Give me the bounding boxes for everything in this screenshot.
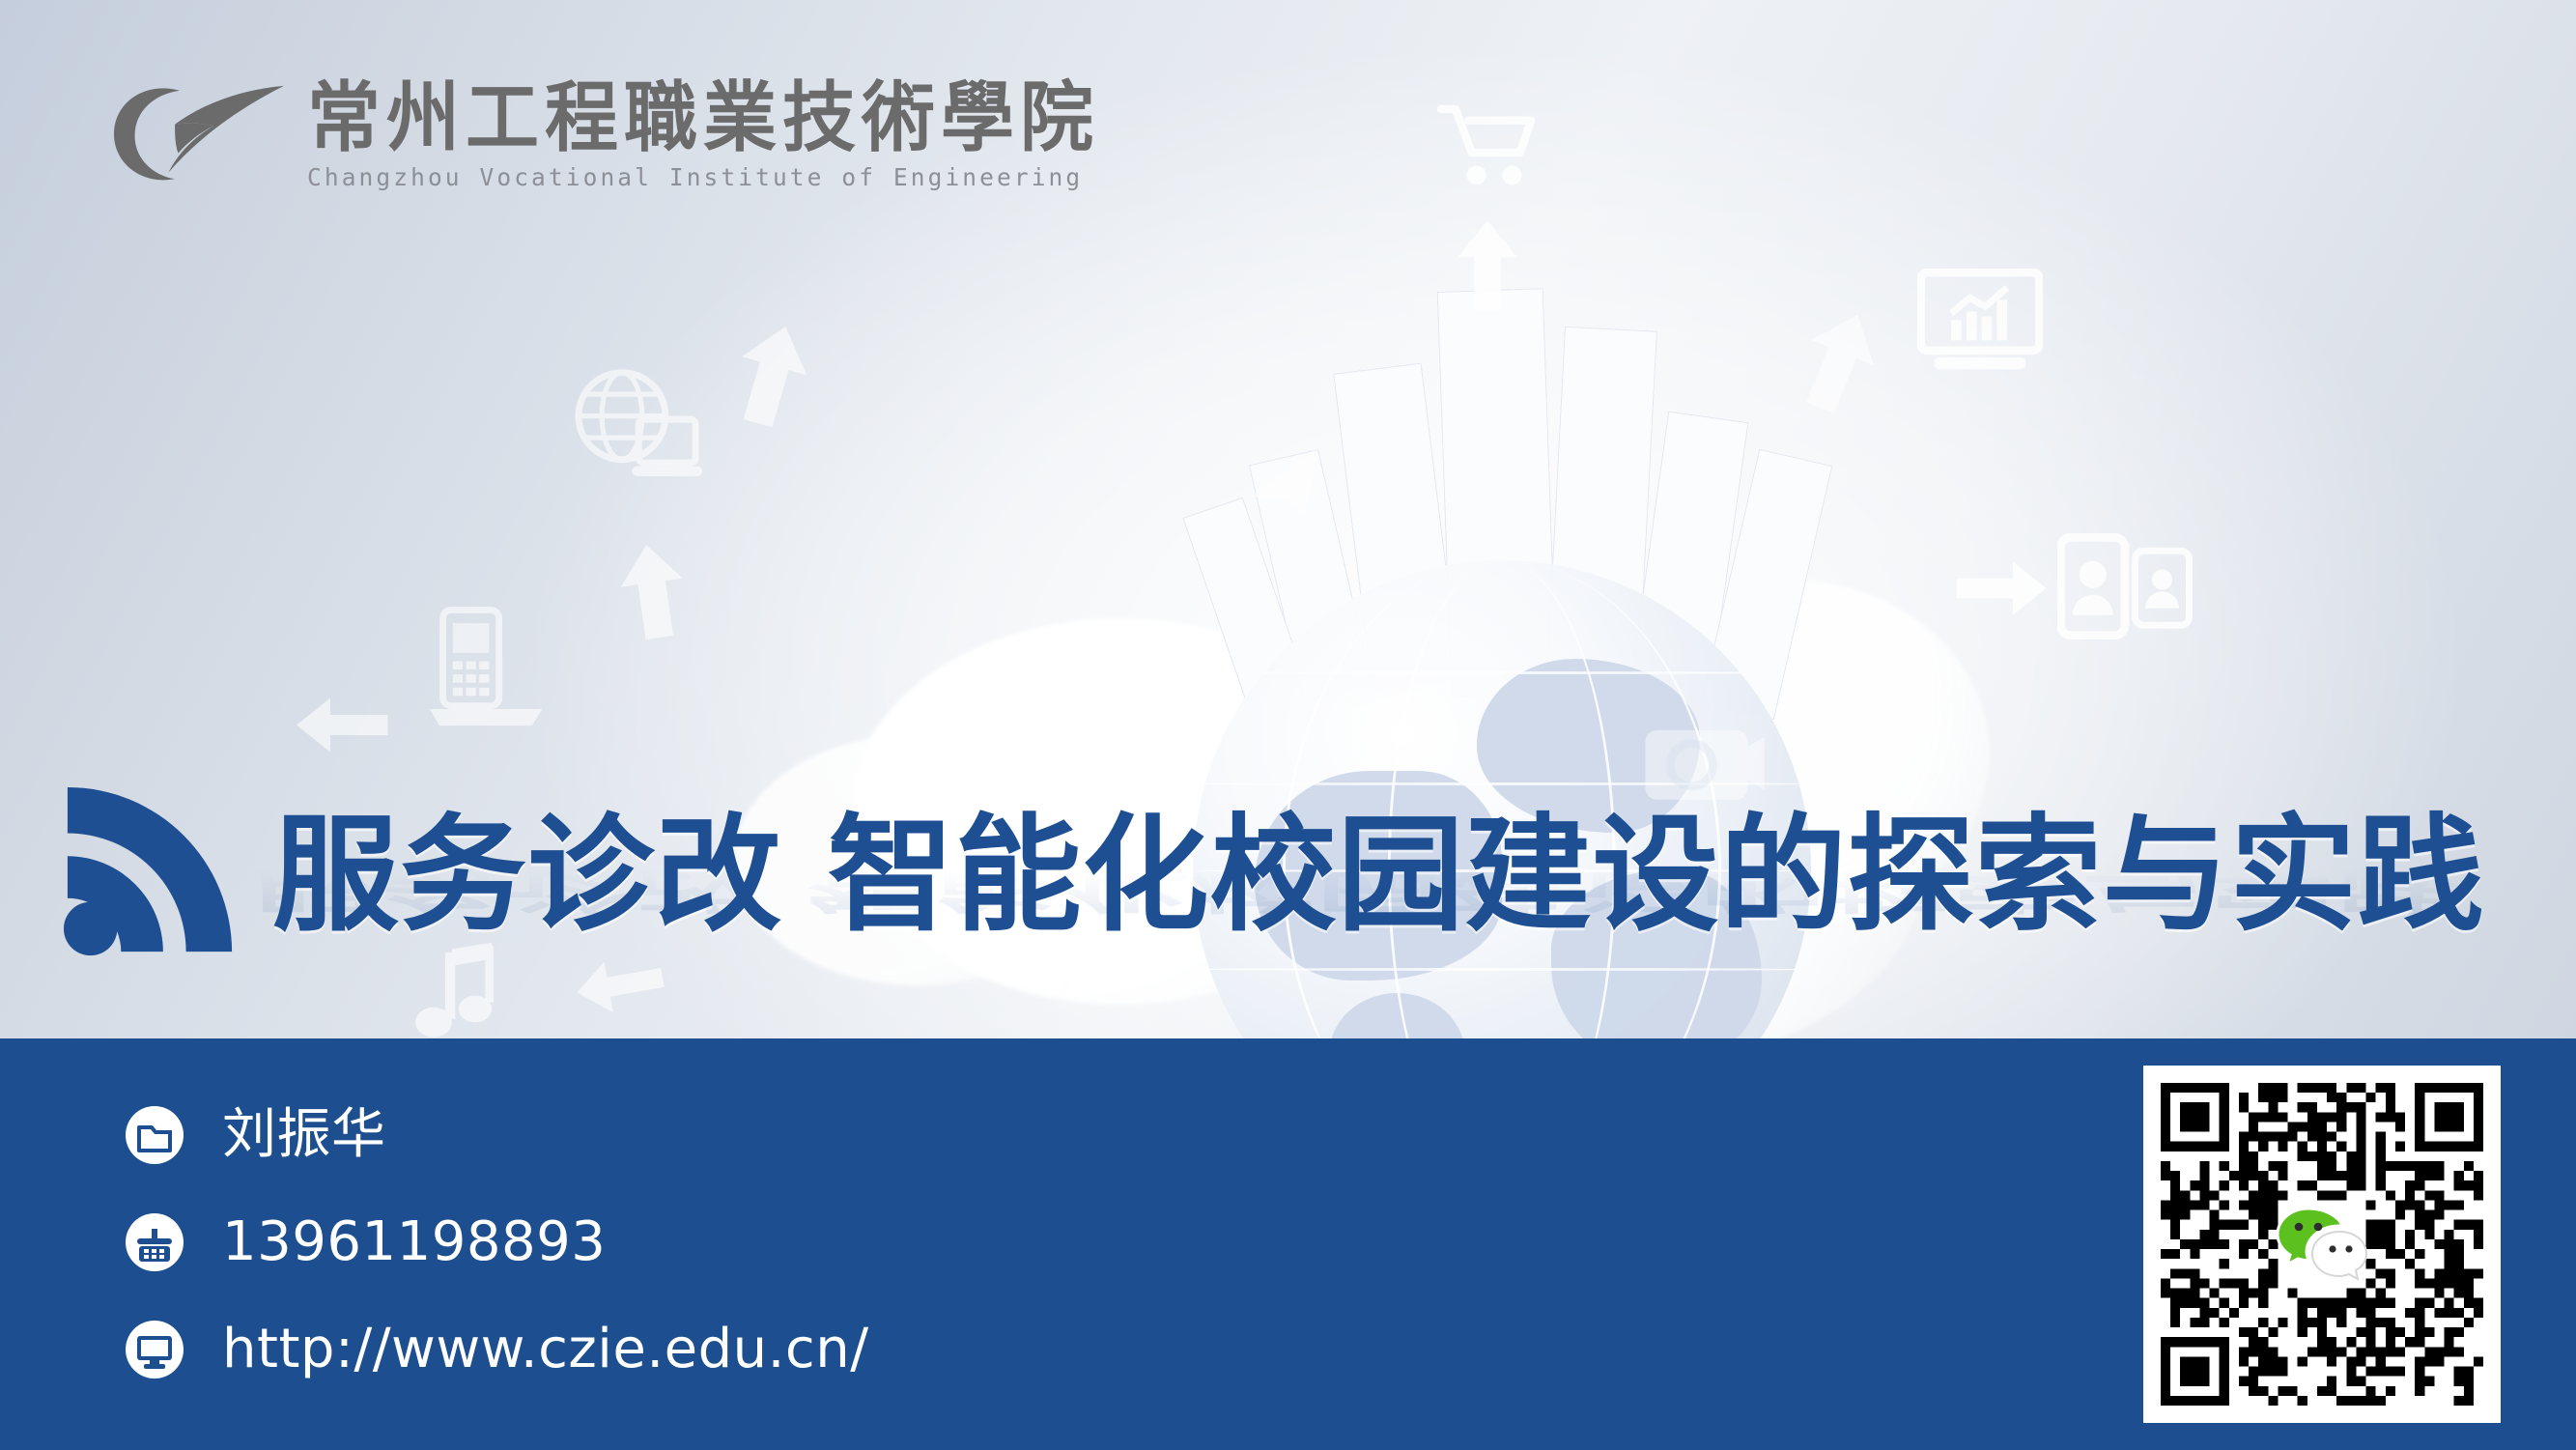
up-arrow-icon — [1784, 297, 1894, 425]
contact-website-label[interactable]: http://www.czie.edu.cn/ — [222, 1322, 869, 1377]
building-shape — [1545, 327, 1657, 698]
institution-logo: 常州工程職業技術學院 Changzhou Vocational Institut… — [104, 75, 1099, 190]
telephone-icon — [124, 1211, 185, 1273]
up-arrow-icon — [721, 312, 823, 437]
rss-wifi-icon — [60, 779, 240, 972]
mobile-phone-dock-icon — [423, 607, 549, 732]
building-shape — [1628, 412, 1749, 710]
monitor-chart-icon — [1917, 269, 2043, 375]
up-arrow-icon — [1454, 217, 1521, 314]
contact-row-name: 刘振华 — [124, 1098, 869, 1172]
footer-contact-bar: 刘振华 139 — [0, 1038, 2576, 1450]
contact-row-website[interactable]: http://www.czie.edu.cn/ — [124, 1313, 869, 1386]
wechat-qr-code[interactable] — [2143, 1066, 2501, 1423]
logo-chinese-name: 常州工程職業技術學院 — [307, 79, 1099, 156]
building-shape — [1182, 498, 1306, 701]
monitor-icon — [124, 1319, 185, 1380]
right-arrow-icon — [1953, 558, 2050, 618]
building-shape — [1333, 363, 1460, 691]
wechat-logo — [2276, 1207, 2368, 1282]
globe-laptop-icon — [572, 369, 702, 490]
up-arrow-icon — [611, 536, 694, 645]
logo-english-name: Changzhou Vocational Institute of Engine… — [307, 166, 1099, 190]
contact-phone-label: 13961198893 — [222, 1215, 606, 1269]
building-shape — [1249, 449, 1373, 700]
contact-list: 刘振华 139 — [124, 1098, 869, 1386]
shopping-cart-icon — [1437, 104, 1542, 191]
qr-canvas-wrapper — [2161, 1083, 2483, 1406]
page-title: 服务诊改 智能化校园建设的探索与实践 — [272, 810, 2485, 941]
contact-row-phone: 13961198893 — [124, 1206, 869, 1279]
folder-icon — [124, 1104, 185, 1166]
paper-plane-icon — [1237, 442, 1341, 533]
building-shape — [1437, 288, 1558, 697]
left-arrow-icon — [290, 694, 391, 756]
contact-cards-icon — [2057, 533, 2193, 640]
institution-emblem-icon — [104, 75, 294, 189]
title-row: 服务诊改 智能化校园建设的探索与实践 — [60, 779, 2552, 972]
contact-name-label: 刘振华 — [222, 1108, 386, 1162]
presentation-cover-slide: 常州工程職業技術學院 Changzhou Vocational Institut… — [0, 0, 2576, 1450]
building-shape — [1701, 449, 1833, 721]
